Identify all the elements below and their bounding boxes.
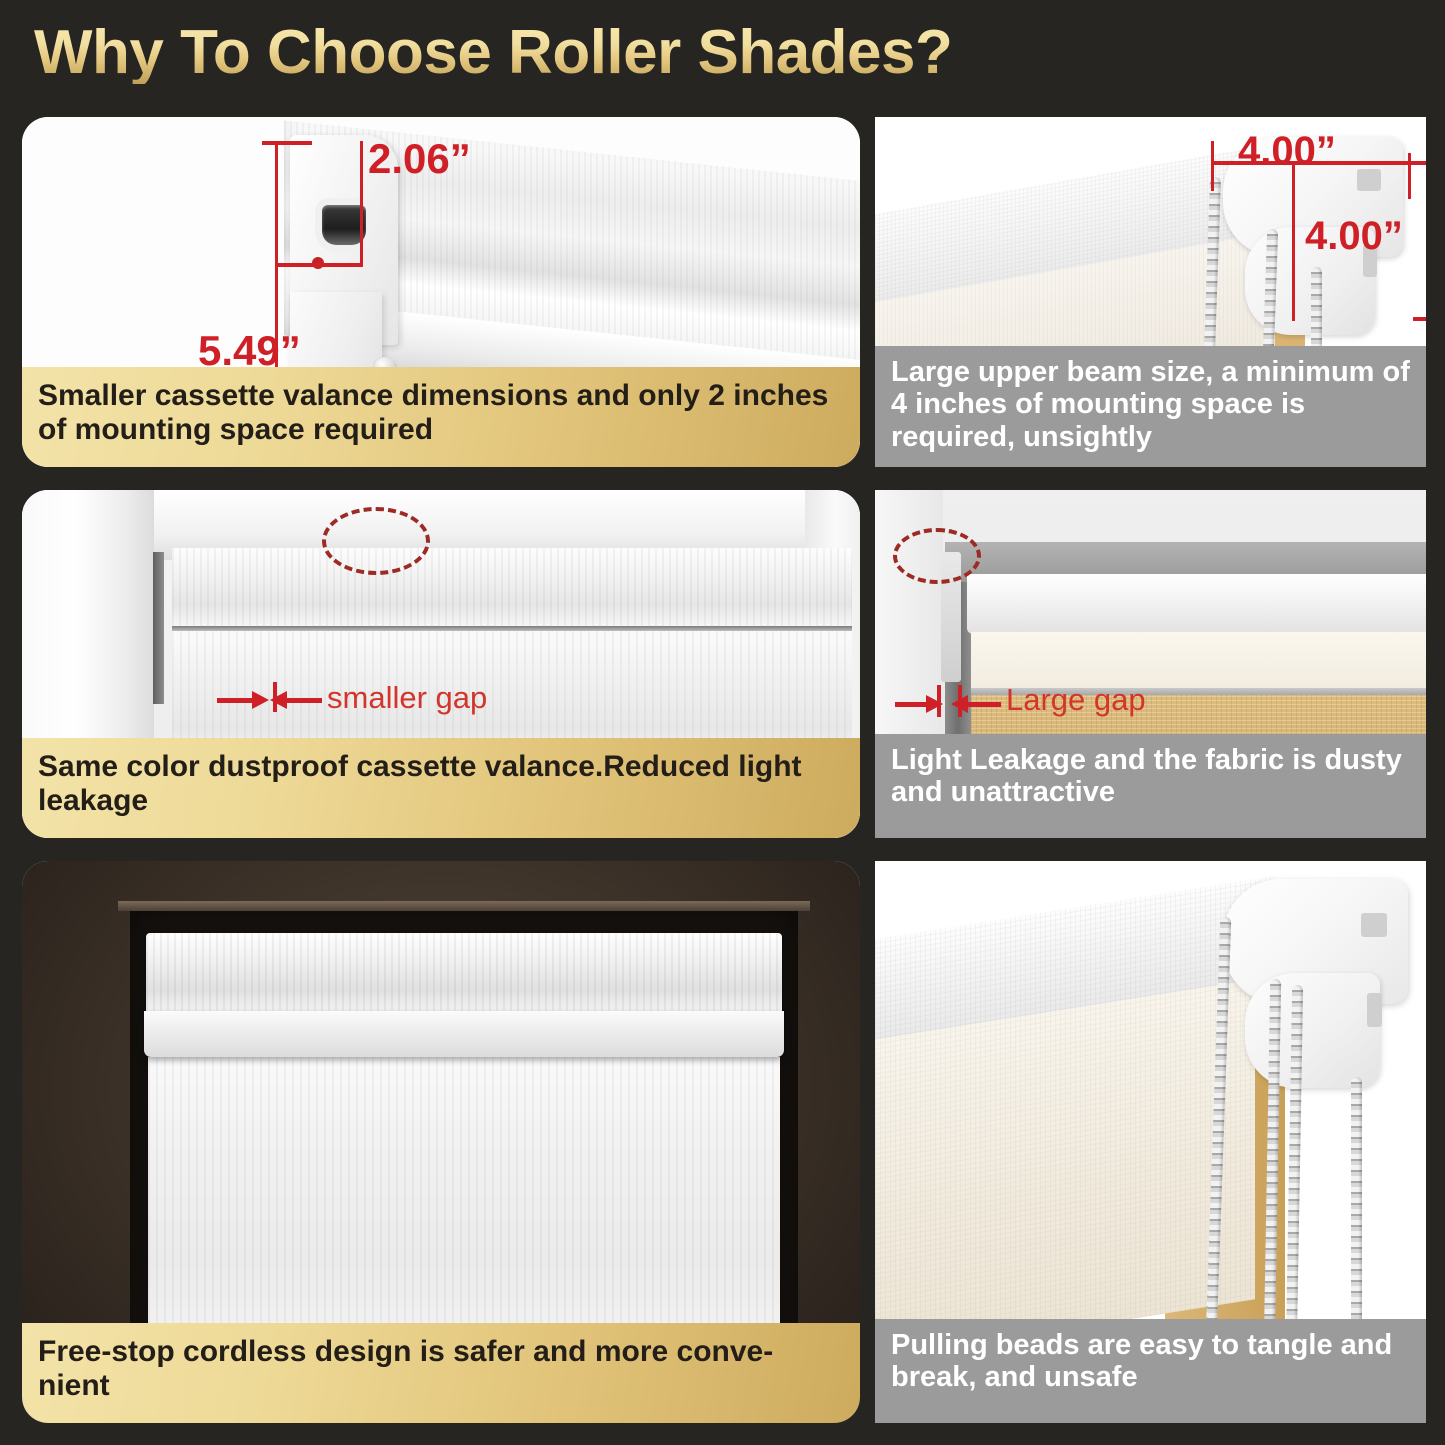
shade-side-gap-small [153, 552, 164, 704]
valance-lip [144, 1011, 784, 1057]
panel-cassette-valance: 2.06” 5.49” Smaller cassette valance dim… [22, 117, 860, 467]
dim-tick-top [262, 141, 312, 145]
gap-arrow-stem-left [895, 702, 927, 707]
dim-tick-bottom-h [1413, 317, 1426, 321]
gap-arrow-right-icon [252, 691, 269, 709]
dim-tick-left [1211, 141, 1214, 191]
dim-line-height [1292, 161, 1295, 321]
beam-bracket-lower [1245, 973, 1380, 1088]
dim-tick-width-right [360, 161, 363, 265]
gap-arrow-left-icon [270, 691, 287, 709]
dimension-label-width: 2.06” [368, 135, 471, 183]
infographic-root: Why To Choose Roller Shades? 2.06” 5.49” [0, 0, 1445, 1445]
caption-light-leakage: Light Leakage and the fabric is dusty an… [875, 734, 1426, 838]
panel-pulling-beads: Pulling beads are easy to tangle and bre… [875, 861, 1426, 1423]
panel-large-upper-beam: 4.00” 4.00” Large upper beam size, a min… [875, 117, 1426, 467]
caption-large-upper-beam: Large upper beam size, a minimum of 4 in… [875, 346, 1426, 467]
dim-tick-top-h [1411, 161, 1426, 165]
gap-arrow-stem-right [967, 702, 1001, 707]
highlight-ellipse-icon [893, 528, 981, 584]
gap-label-large: Large gap [1006, 682, 1146, 718]
panel-free-stop-cordless: Free-stop cordless design is safer and m… [22, 861, 860, 1423]
dimension-label-width: 4.00” [1238, 129, 1336, 174]
bracket-notch [1367, 993, 1382, 1027]
caption-free-stop-cordless: Free-stop cordless design is safer and m… [22, 1323, 860, 1423]
gap-arrow-stem-right [286, 698, 322, 703]
gap-arrow-right-icon [926, 695, 943, 713]
dim-line-width [277, 263, 363, 267]
dim-tick-right [1408, 153, 1411, 199]
bracket-notch [1361, 913, 1387, 937]
caption-pulling-beads: Pulling beads are easy to tangle and bre… [875, 1319, 1426, 1423]
window-header [118, 901, 810, 911]
bead-chain [1351, 1077, 1362, 1347]
cassette-valance-installed [172, 548, 852, 630]
panel-light-leakage: Large gap Light Leakage and the fabric i… [875, 490, 1426, 838]
page-title: Why To Choose Roller Shades? [34, 22, 952, 84]
highlight-ellipse-icon [322, 507, 430, 575]
caption-cassette-valance: Smaller cassette valance dimensions and … [22, 367, 860, 467]
dimension-label-height: 4.00” [1305, 214, 1403, 259]
gap-arrow-left-icon [951, 695, 968, 713]
panel-dustproof-valance: smaller gap Same color dustproof cassett… [22, 490, 860, 838]
beige-shade-fabric [875, 979, 1255, 1362]
gap-arrow-stem-left [217, 698, 253, 703]
cassette-valance-installed [146, 933, 782, 1015]
bracket-notch [1357, 169, 1381, 191]
gap-label-small: smaller gap [327, 680, 487, 716]
roller-tube [967, 574, 1426, 634]
caption-dustproof-valance: Same color dustproof cassette valance.Re… [22, 738, 860, 838]
